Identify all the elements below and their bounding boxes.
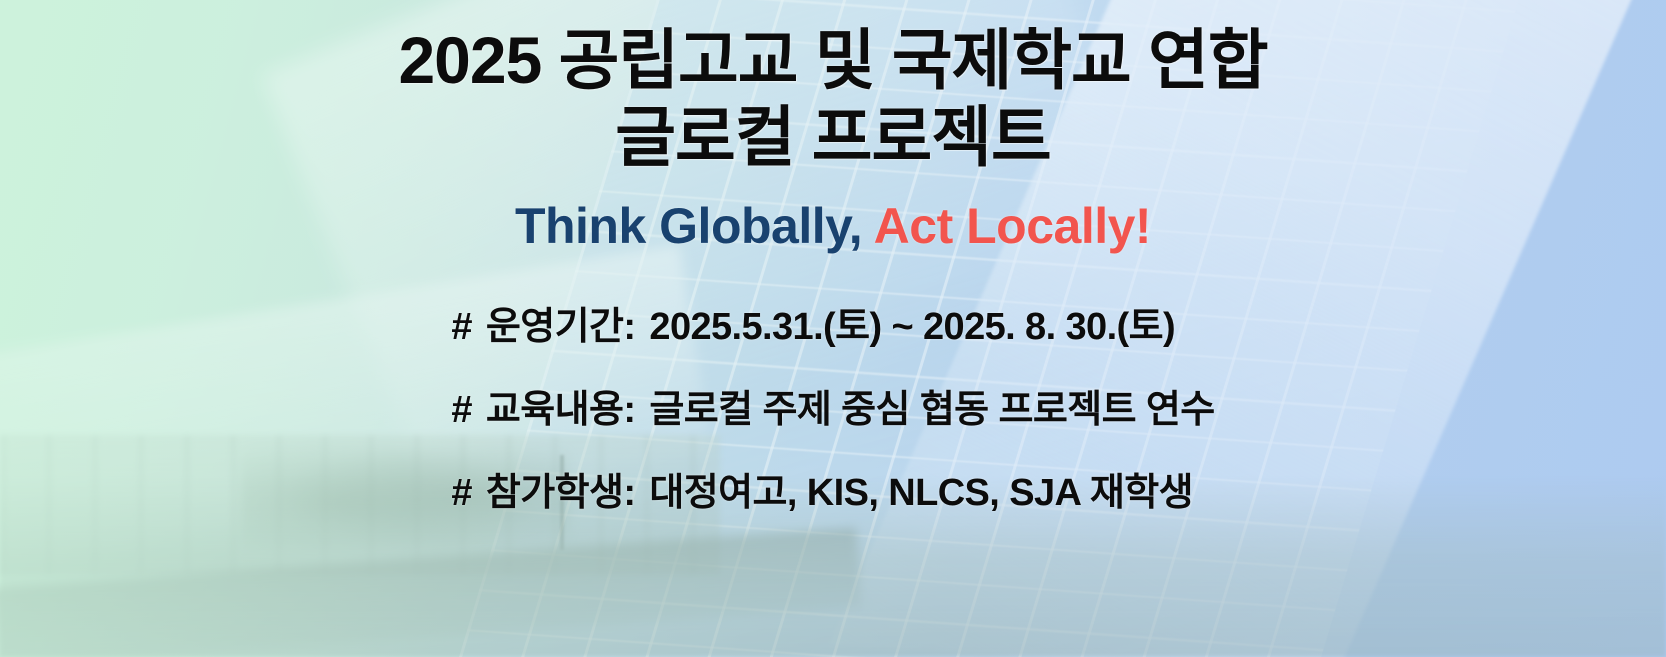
- banner-title: 2025 공립고교 및 국제학교 연합글로컬 프로젝트: [398, 22, 1267, 175]
- info-label-participants: 참가학생:: [486, 461, 636, 516]
- info-value-participants: 대정여고, KIS, NLCS, SJA 재학생: [649, 461, 1193, 516]
- info-line-period: # 운영기간: 2025.5.31.(토) ~ 2025. 8. 30.(토): [451, 295, 1175, 350]
- info-value-curriculum: 글로컬 주제 중심 협동 프로젝트 연수: [649, 378, 1214, 433]
- hash-icon: #: [451, 306, 472, 349]
- banner-title-line-2: 글로컬 프로젝트: [615, 100, 1050, 174]
- banner-subtitle: Think Globally, Act Locally!: [515, 197, 1151, 255]
- info-label-curriculum: 교육내용:: [486, 378, 636, 433]
- banner-content: 2025 공립고교 및 국제학교 연합글로컬 프로젝트 Think Global…: [0, 0, 1666, 657]
- subtitle-act-locally: Act Locally!: [874, 198, 1151, 254]
- hash-icon: #: [451, 472, 472, 515]
- subtitle-think-globally: Think Globally,: [515, 198, 862, 254]
- info-line-participants: # 참가학생: 대정여고, KIS, NLCS, SJA 재학생: [451, 461, 1193, 516]
- banner-title-line-1: 2025 공립고교 및 국제학교 연합: [398, 23, 1267, 97]
- info-value-period: 2025.5.31.(토) ~ 2025. 8. 30.(토): [649, 295, 1175, 350]
- hash-icon: #: [451, 389, 472, 432]
- banner-info-list: # 운영기간: 2025.5.31.(토) ~ 2025. 8. 30.(토) …: [451, 295, 1214, 516]
- info-label-period: 운영기간:: [486, 295, 636, 350]
- promo-banner: 2025 공립고교 및 국제학교 연합글로컬 프로젝트 Think Global…: [0, 0, 1666, 657]
- info-line-curriculum: # 교육내용: 글로컬 주제 중심 협동 프로젝트 연수: [451, 378, 1214, 433]
